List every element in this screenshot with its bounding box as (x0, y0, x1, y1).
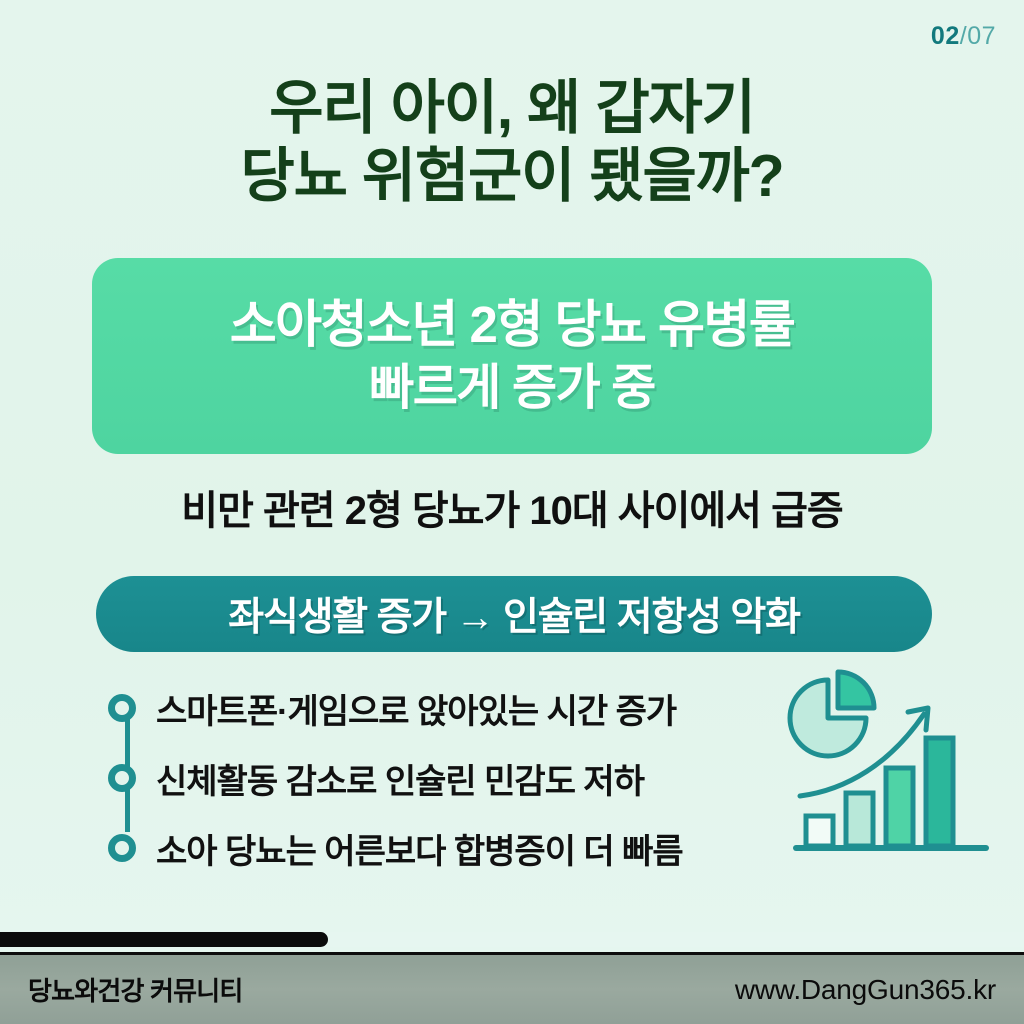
progress-fill (0, 932, 328, 947)
page-title: 우리 아이, 왜 갑자기 당뇨 위험군이 됐을까? (0, 74, 1024, 211)
bullet-list: 스마트폰·게임으로 앉아있는 시간 증가 신체활동 감소로 인슐린 민감도 저하… (108, 686, 808, 870)
growth-chart-illustration (786, 668, 996, 868)
bullet-text: 스마트폰·게임으로 앉아있는 시간 증가 (156, 684, 676, 733)
page-current: 02 (931, 22, 960, 51)
page-total: 07 (967, 22, 996, 51)
banner-line-2: 빠르게 증가 중 (369, 359, 655, 418)
headline-line-2: 당뇨 위험군이 됐을까? (0, 142, 1024, 210)
bullet-marker-icon (108, 764, 136, 792)
list-item: 소아 당뇨는 어른보다 합병증이 더 빠름 (108, 826, 808, 870)
causal-statement-pill: 좌식생활 증가 → 인슐린 저항성 악화 (96, 576, 932, 652)
progress-track (0, 932, 1024, 947)
bullet-marker-icon (108, 694, 136, 722)
pie-chart-icon (790, 672, 874, 756)
page-indicator: 02 / 07 (931, 22, 996, 51)
highlight-banner: 소아청소년 2형 당뇨 유병률 빠르게 증가 중 (92, 258, 932, 454)
infographic-card: 02 / 07 우리 아이, 왜 갑자기 당뇨 위험군이 됐을까? 소아청소년 … (0, 0, 1024, 1024)
bullet-text: 신체활동 감소로 인슐린 민감도 저하 (156, 754, 644, 803)
bullet-marker-icon (108, 834, 136, 862)
subtitle-text: 비만 관련 2형 당뇨가 10대 사이에서 급증 (0, 478, 1024, 536)
footer-website-url[interactable]: www.DangGun365.kr (735, 974, 996, 1006)
list-item: 신체활동 감소로 인슐린 민감도 저하 (108, 756, 808, 800)
footer-bar: 당뇨와건강 커뮤니티 www.DangGun365.kr (0, 952, 1024, 1024)
banner-line-1: 소아청소년 2형 당뇨 유병률 (230, 294, 795, 355)
bullet-text: 소아 당뇨는 어른보다 합병증이 더 빠름 (156, 824, 683, 873)
footer-community-name: 당뇨와건강 커뮤니티 (28, 971, 243, 1008)
list-item: 스마트폰·게임으로 앉아있는 시간 증가 (108, 686, 808, 730)
causal-statement-text: 좌식생활 증가 → 인슐린 저항성 악화 (228, 586, 800, 642)
growth-chart-svg (786, 668, 996, 868)
page-separator: / (960, 22, 967, 51)
headline-line-1: 우리 아이, 왜 갑자기 (269, 75, 754, 141)
